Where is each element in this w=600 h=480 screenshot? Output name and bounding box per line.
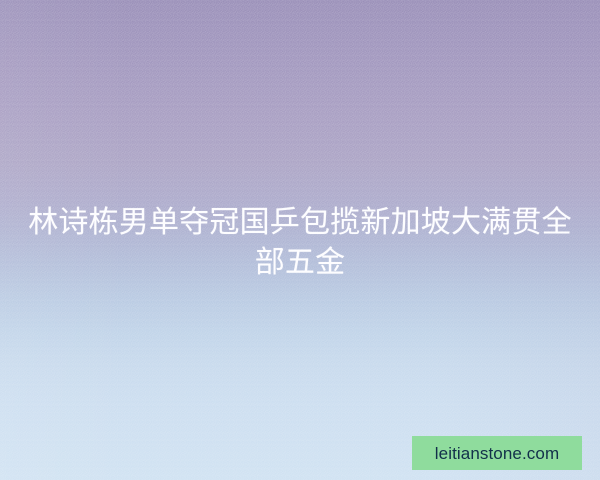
watermark-site-label: leitianstone.com <box>435 445 559 462</box>
poster-image: 林诗栋男单夺冠国乒包揽新加坡大满贯全部五金 leitianstone.com <box>0 0 600 480</box>
headline-text: 林诗栋男单夺冠国乒包揽新加坡大满贯全部五金 <box>26 203 574 283</box>
watermark-badge: leitianstone.com <box>412 436 582 470</box>
